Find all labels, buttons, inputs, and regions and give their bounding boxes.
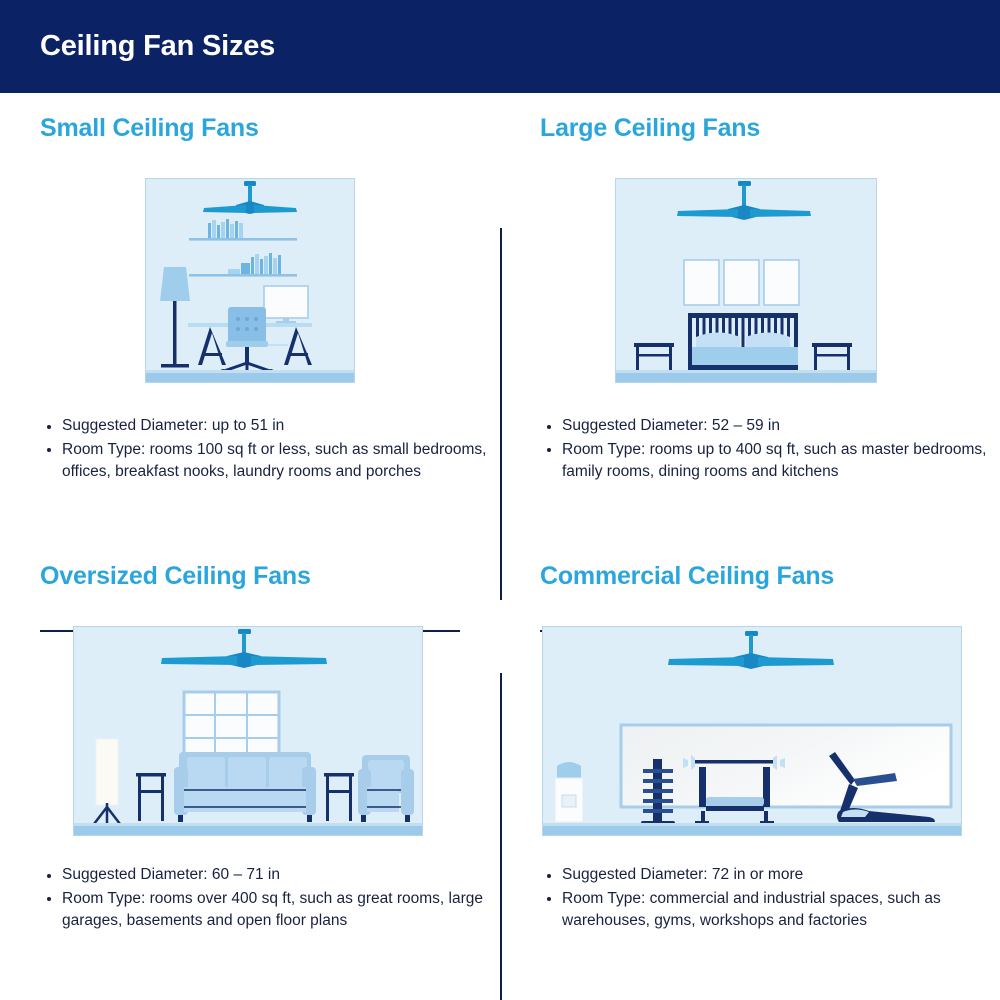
floor-band	[616, 373, 876, 382]
water-cooler	[555, 762, 583, 822]
living-room-illustration	[73, 626, 423, 836]
list-item: Suggested Diameter: up to 51 in	[40, 415, 500, 438]
floor-band	[146, 373, 354, 382]
divider-vertical-top	[500, 228, 502, 600]
divider-vertical-bottom	[500, 673, 502, 1000]
page-title: Ceiling Fan Sizes	[40, 30, 275, 63]
floor-lamp-tripod	[94, 739, 120, 824]
side-table-left	[136, 773, 166, 821]
section-title-commercial: Commercial Ceiling Fans	[540, 561, 1000, 591]
floor-band	[543, 826, 961, 835]
section-title-small: Small Ceiling Fans	[40, 113, 500, 143]
bookshelf-upper	[189, 219, 297, 241]
list-item: Suggested Diameter: 72 in or more	[540, 864, 1000, 887]
section-title-oversized: Oversized Ceiling Fans	[40, 561, 500, 591]
home-office-room-illustration	[145, 178, 355, 383]
sofa	[174, 752, 316, 822]
window	[184, 692, 279, 760]
bedroom-room-illustration	[615, 178, 877, 383]
wall-art-frames	[684, 260, 799, 305]
section-small-ceiling-fans: Small Ceiling Fans	[40, 113, 500, 485]
list-item: Room Type: commercial and industrial spa…	[540, 888, 1000, 933]
nightstand-left	[634, 343, 674, 372]
bookshelf-lower	[189, 253, 297, 277]
header-bar: Ceiling Fan Sizes	[0, 0, 1000, 93]
sections-grid: Small Ceiling Fans	[0, 93, 1000, 1000]
ceiling-fan-icon	[203, 181, 297, 214]
section-oversized-ceiling-fans: Oversized Ceiling Fans	[40, 561, 500, 934]
section-commercial-ceiling-fans: Commercial Ceiling Fans	[540, 561, 1000, 934]
list-item: Suggested Diameter: 60 – 71 in	[40, 864, 500, 887]
floor-band	[74, 826, 422, 835]
armchair	[358, 755, 414, 822]
ceiling-fan-icon	[677, 181, 811, 220]
list-item: Room Type: rooms up to 400 sq ft, such a…	[540, 439, 1000, 484]
bullet-list-commercial: Suggested Diameter: 72 in or more Room T…	[540, 864, 1000, 933]
list-item: Suggested Diameter: 52 – 59 in	[540, 415, 1000, 438]
bullet-list-oversized: Suggested Diameter: 60 – 71 in Room Type…	[40, 864, 500, 933]
ceiling-fan-icon	[161, 629, 327, 668]
bullet-list-small: Suggested Diameter: up to 51 in Room Typ…	[40, 415, 500, 484]
bullet-list-large: Suggested Diameter: 52 – 59 in Room Type…	[540, 415, 1000, 484]
monitor	[264, 286, 308, 324]
gym-room-illustration	[542, 626, 962, 836]
section-title-large: Large Ceiling Fans	[540, 113, 1000, 143]
side-table-right	[324, 773, 354, 821]
ceiling-fan-icon	[668, 631, 834, 669]
list-item: Room Type: rooms over 400 sq ft, such as…	[40, 888, 500, 933]
section-large-ceiling-fans: Large Ceiling Fans	[540, 113, 1000, 485]
infographic-page: Ceiling Fan Sizes Small Ceiling Fans	[0, 0, 1000, 1000]
nightstand-right	[812, 343, 852, 372]
mirror-wall-panel	[621, 725, 951, 807]
bed	[688, 313, 798, 372]
floor-lamp	[160, 267, 190, 368]
list-item: Room Type: rooms 100 sq ft or less, such…	[40, 439, 500, 484]
